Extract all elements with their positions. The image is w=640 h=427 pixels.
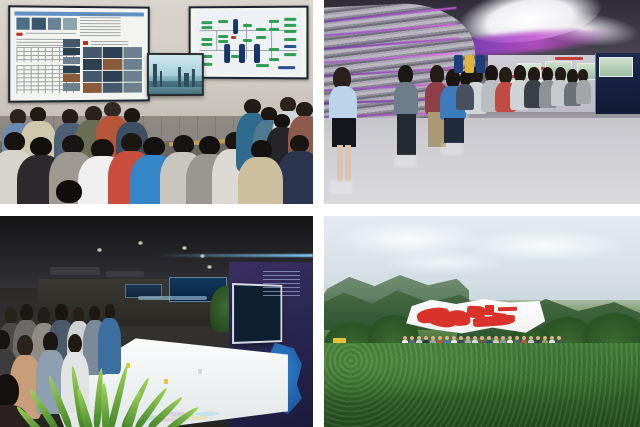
visitor-crowd [0,82,313,204]
process-flow-board [189,6,309,80]
process-flow-diagram [195,11,301,74]
photo-top-right[interactable] [324,0,640,204]
poster-photo-row [16,18,77,30]
interactive-map-photo [0,216,313,427]
hall-floor [324,118,640,204]
tea-bushes [324,343,640,427]
wall-text-block [263,271,301,296]
wall-heading-1 [555,57,583,60]
poster-section-marker-2 [83,41,88,45]
map-marker-3 [198,369,202,374]
bush-texture [324,343,640,427]
photo-collage: Group visit photo collage Visitors gathe… [0,0,640,427]
photo-bottom-right[interactable] [324,216,640,427]
poster-section-title [26,33,76,37]
photo-bottom-left[interactable] [0,216,313,427]
group-photo-tea-plantation [324,216,640,427]
ceiling-duct [50,267,100,275]
poster-section-title-2 [91,41,129,45]
industrial-hall-photo [0,0,313,204]
ceiling-rim-light [157,254,314,257]
wall-display-7[interactable] [599,57,633,77]
poster-article-text [80,14,121,38]
ceiling-duct-2 [106,271,144,277]
exhibition-hall-photo [324,0,640,204]
foreground-plant [31,355,194,427]
poster-section-marker [16,33,23,37]
photo-top-left[interactable] [0,0,313,204]
